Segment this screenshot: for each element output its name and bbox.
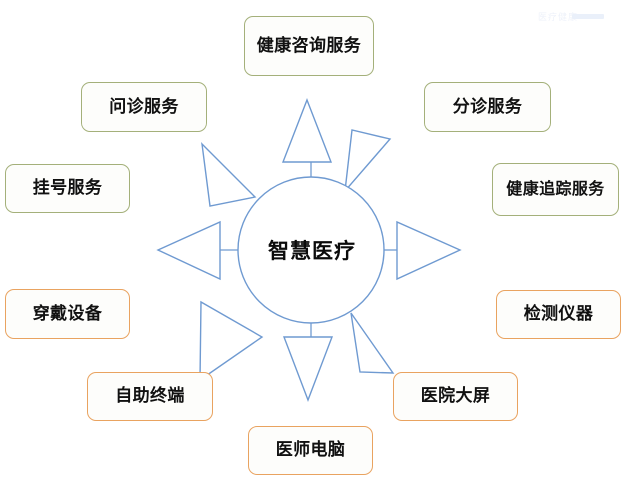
diagram-canvas: 医疗健康 智慧医疗 健康咨询服务分诊服务健康追踪服务问诊服务挂号服务穿戴设备自助… (0, 0, 640, 486)
node-hospital-large-screen[interactable]: 医院大屏 (393, 372, 518, 421)
arrow-upper-left-icon (202, 144, 255, 206)
node-label: 检测仪器 (501, 304, 616, 324)
node-detection-instrument[interactable]: 检测仪器 (496, 290, 621, 339)
node-label: 医师电脑 (253, 440, 368, 460)
node-label: 挂号服务 (10, 178, 125, 198)
node-triage-service[interactable]: 分诊服务 (424, 82, 551, 132)
arrow-upper-right-icon (345, 130, 390, 191)
arrow-lower-right-icon (351, 313, 393, 373)
node-label: 健康追踪服务 (497, 180, 614, 199)
node-registration-service[interactable]: 挂号服务 (5, 164, 130, 213)
node-health-consult-service[interactable]: 健康咨询服务 (244, 16, 374, 76)
node-physician-computer[interactable]: 医师电脑 (248, 426, 373, 475)
node-label: 自助终端 (92, 386, 208, 406)
node-wearable-device[interactable]: 穿戴设备 (5, 289, 130, 339)
arrow-lower-left-icon (200, 302, 262, 380)
node-label: 健康咨询服务 (249, 36, 369, 56)
arrow-left-icon (158, 222, 220, 279)
node-label: 医院大屏 (398, 386, 513, 406)
node-health-tracking-service[interactable]: 健康追踪服务 (492, 163, 619, 216)
node-self-service-terminal[interactable]: 自助终端 (87, 372, 213, 421)
arrow-right-icon (397, 222, 460, 279)
node-label: 穿戴设备 (10, 304, 125, 324)
arrow-up-icon (283, 100, 331, 162)
node-inquiry-service[interactable]: 问诊服务 (81, 82, 207, 132)
node-label: 分诊服务 (429, 97, 546, 117)
arrow-down-icon (284, 337, 332, 400)
center-label: 智慧医疗 (238, 228, 386, 272)
node-label: 问诊服务 (86, 97, 202, 117)
